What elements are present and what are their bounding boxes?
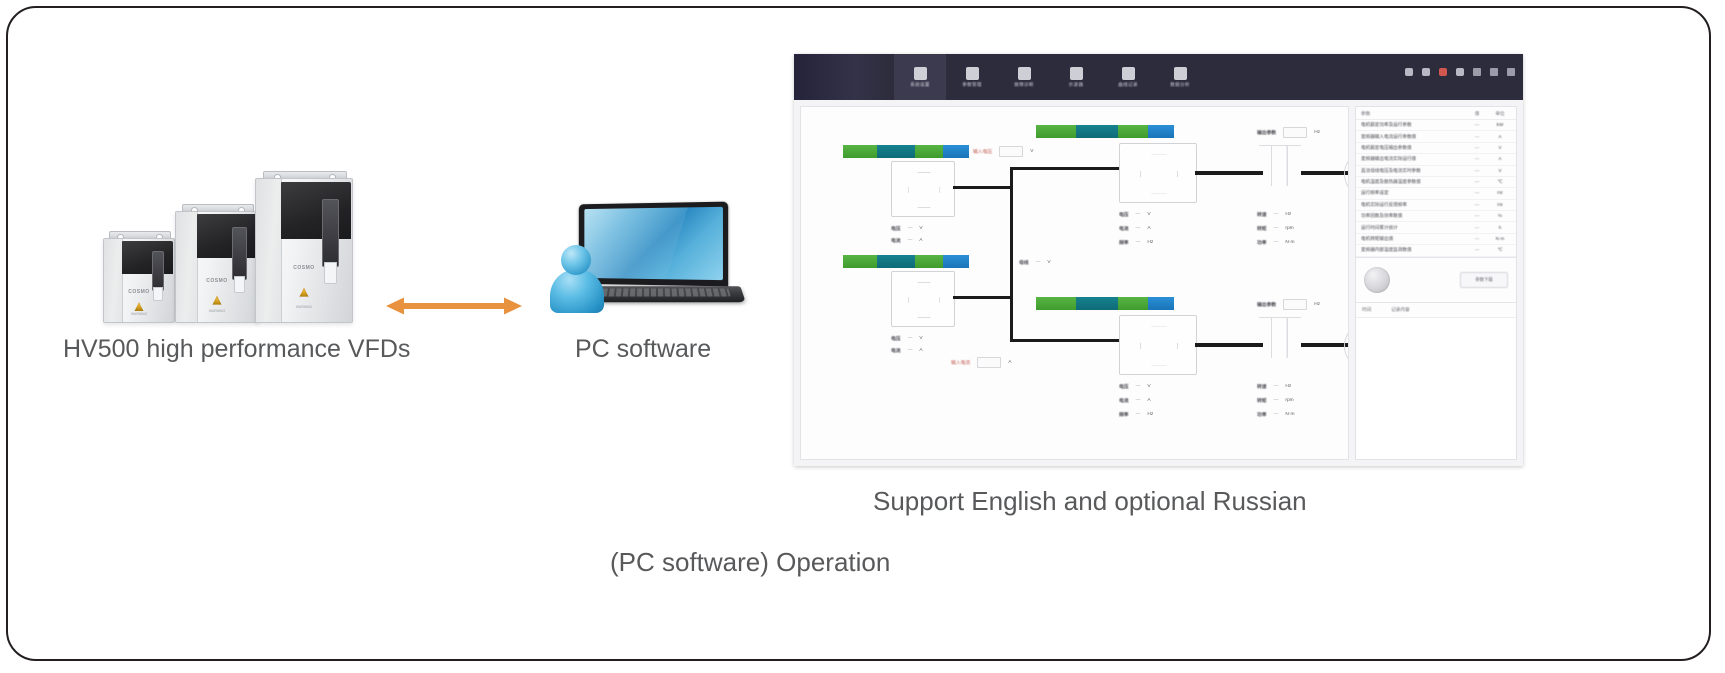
row-unit: N·m (1489, 236, 1511, 242)
window-controls[interactable] (1405, 68, 1515, 76)
drive-brand-label: COSMO (128, 289, 149, 295)
help-icon[interactable] (1405, 68, 1413, 76)
lang-icon[interactable] (1439, 68, 1447, 76)
drive-brand-label: COSMO (206, 278, 227, 284)
drive-side-panel (104, 239, 123, 322)
row-name: 电机额定电压输出参数值 (1361, 145, 1465, 151)
drive-keypad-icon (232, 227, 246, 280)
row-unit: V (1489, 168, 1511, 174)
mid-param-lower-1: 电压 — V (1119, 383, 1151, 390)
tab-system-settings[interactable]: 系统设置 (894, 54, 946, 100)
tab-curve-record[interactable]: 曲线记录 (1102, 54, 1154, 100)
table-row[interactable]: 功率因数及效率数值 — % (1356, 211, 1516, 222)
operation-caption: (PC software) Operation (610, 547, 890, 578)
monitor-icon (1018, 67, 1031, 80)
inverter-block-upper[interactable] (1119, 143, 1197, 203)
bus-wire-lower-out (1010, 339, 1120, 342)
support-language-caption: Support English and optional Russian (873, 486, 1307, 517)
row-value: — (1465, 202, 1489, 208)
chart-icon (1122, 67, 1135, 80)
status-bar-mid-upper (1036, 125, 1174, 138)
drive-side-panel (176, 212, 198, 322)
row-value: — (1465, 179, 1489, 185)
row-value: — (1465, 225, 1489, 231)
bus-wire-upper-out (1010, 167, 1120, 170)
drive-keypad-icon (322, 199, 338, 267)
drive-dark-panel (122, 241, 173, 274)
tab-label: 曲线记录 (1118, 82, 1138, 88)
col-header-unit: 单位 (1489, 111, 1511, 117)
drive-warning-text: WARNING (296, 305, 312, 309)
inverter-block-lower[interactable] (1119, 315, 1197, 375)
left-param-row-upper-2: 电流 — A (891, 237, 923, 244)
value-field[interactable] (977, 357, 1001, 368)
mid-param-upper-1: 电压 — V (1119, 211, 1151, 218)
topology-canvas[interactable]: 输入电压 V 电压 — V 电流 — A (800, 106, 1349, 460)
left-input-label-lower: 输入电流 A (951, 357, 1011, 368)
row-name: 运行时间累计统计 (1361, 225, 1465, 231)
user-icon[interactable] (1422, 68, 1430, 76)
warning-triangle-icon (135, 302, 144, 311)
row-name: 运行频率设定 (1361, 190, 1465, 196)
row-unit: kW (1489, 122, 1511, 128)
row-unit: Hz (1489, 202, 1511, 208)
drive-keypad-tail (153, 287, 163, 301)
output-wire-lower (1195, 343, 1263, 347)
row-name: 电机温度及散热器温度参数值 (1361, 179, 1465, 185)
row-value: — (1465, 236, 1489, 242)
mid-param-upper-2: 电流 — A (1119, 225, 1151, 232)
gear-icon[interactable] (1456, 68, 1464, 76)
row-unit: h (1489, 225, 1511, 231)
download-params-button[interactable]: 参数下载 (1460, 272, 1508, 288)
parameter-table-rows[interactable]: 电机额定功率及运行参数 — kW 变频器输入电流运行参数值 — A 电机额定电压… (1356, 120, 1516, 257)
pc-caption: PC software (575, 335, 711, 364)
laptop-screen-icon (579, 202, 728, 287)
log-col-content: 记录内容 (1391, 307, 1409, 313)
filter-block-lower (1259, 317, 1301, 358)
converter-block-left-upper[interactable] (891, 161, 955, 217)
dial-knob-icon[interactable] (1364, 267, 1390, 293)
col-header-name: 参数 (1361, 111, 1465, 117)
table-row[interactable]: 运行时间累计统计 — h (1356, 222, 1516, 233)
row-name: 变频器内部温度监测数值 (1361, 247, 1465, 253)
warning-triangle-icon (300, 288, 309, 297)
user-avatar-head-icon (561, 245, 591, 275)
vfd-unit-medium: COSMO WARNING (175, 211, 259, 323)
drive-keypad-icon (152, 251, 165, 291)
row-value: — (1465, 145, 1489, 151)
tab-label: 数据分析 (1170, 82, 1190, 88)
bus-voltage-label: 母线 — V (1019, 259, 1051, 266)
status-bar-left-lower (843, 255, 969, 268)
row-unit: V (1489, 145, 1511, 151)
slide-root: COSMO WARNING COSMO WARNING (0, 0, 1725, 673)
software-titlebar: 系统设置 参数管理 故障诊断 示波器 (794, 54, 1523, 100)
left-param-row-upper-1: 电压 — V (891, 225, 923, 232)
row-unit: ℃ (1489, 179, 1511, 185)
col-header-value: 值 (1465, 111, 1489, 117)
converter-block-left-lower[interactable] (891, 271, 955, 327)
out-param-upper-3: 功率 — N·m (1257, 239, 1294, 246)
list-icon (966, 67, 979, 80)
tab-label: 系统设置 (910, 82, 930, 88)
row-value: — (1465, 190, 1489, 196)
drive-dark-panel (197, 214, 257, 258)
table-row[interactable]: 电机实际运行反馈频率 — Hz (1356, 200, 1516, 211)
software-logo (794, 54, 894, 100)
grid-icon (914, 67, 927, 80)
mid-param-lower-3: 频率 — Hz (1119, 411, 1153, 418)
log-table-body[interactable] (1356, 318, 1516, 460)
row-unit: A (1489, 134, 1511, 140)
mid-param-upper-3: 频率 — Hz (1119, 239, 1153, 246)
value-field[interactable] (999, 146, 1023, 157)
maximize-icon[interactable] (1490, 68, 1498, 76)
bus-wire-upper-in (953, 186, 1013, 189)
drive-warning-text: WARNING (131, 312, 147, 316)
table-row[interactable]: 电机转矩输出值 — N·m (1356, 234, 1516, 245)
motor-symbol-lower (1344, 322, 1349, 370)
value-field[interactable] (1283, 127, 1307, 138)
drive-warning-text: WARNING (209, 309, 225, 313)
pc-software-window: 系统设置 参数管理 故障诊断 示波器 (794, 54, 1523, 466)
parameter-panel[interactable]: 参数 值 单位 电机额定功率及运行参数 — kW 变频器输入电流运行参数值 — (1355, 106, 1517, 460)
row-name: 电机转矩输出值 (1361, 236, 1465, 242)
software-tab-bar[interactable]: 系统设置 参数管理 故障诊断 示波器 (894, 54, 1206, 100)
row-name: 电机实际运行反馈频率 (1361, 202, 1465, 208)
bus-wire-vertical (1010, 167, 1013, 342)
close-icon[interactable] (1507, 68, 1515, 76)
minimize-icon[interactable] (1473, 68, 1481, 76)
tab-label: 参数管理 (962, 82, 982, 88)
left-param-row-lower-1: 电压 — V (891, 335, 923, 342)
status-bar-mid-lower (1036, 297, 1174, 310)
row-value: — (1465, 122, 1489, 128)
drive-keypad-tail (324, 262, 337, 284)
vfd-caption: HV500 high performance VFDs (63, 335, 410, 364)
value-field[interactable] (1283, 299, 1307, 310)
output-title-upper: 输出参数 Hz (1257, 127, 1320, 138)
laptop-wallpaper (584, 207, 723, 280)
tab-fault-diagnosis[interactable]: 故障诊断 (998, 54, 1050, 100)
drive-dark-panel (281, 182, 351, 239)
row-value: — (1465, 134, 1489, 140)
drive-body: COSMO WARNING (103, 238, 175, 323)
left-param-row-lower-2: 电流 — A (891, 347, 923, 354)
table-row[interactable]: 电机额定电压输出参数值 — V (1356, 143, 1516, 154)
tab-data-analysis[interactable]: 数据分析 (1154, 54, 1206, 100)
drive-brand-label: COSMO (293, 265, 314, 271)
row-name: 变频器输入电流运行参数值 (1361, 134, 1465, 140)
row-name: 功率因数及效率数值 (1361, 213, 1465, 219)
row-value: — (1465, 156, 1489, 162)
status-bar-left-upper (843, 145, 969, 158)
output-title-lower: 输出参数 Hz (1257, 299, 1320, 310)
out-param-lower-2: 转矩 — rpm (1257, 397, 1294, 404)
parameter-table-header: 参数 值 单位 (1356, 107, 1516, 120)
table-row[interactable]: 变频器输入电流运行参数值 — A (1356, 131, 1516, 142)
table-row[interactable]: 运行频率设定 — Hz (1356, 188, 1516, 199)
filter-block-upper (1259, 145, 1301, 186)
output-wire-upper (1195, 171, 1263, 175)
row-name: 变频器输出电流实际运行值 (1361, 156, 1465, 162)
vfd-unit-small: COSMO WARNING (103, 238, 175, 323)
out-param-lower-1: 转速 — Hz (1257, 383, 1291, 390)
vfd-unit-large: COSMO WARNING (255, 178, 353, 323)
row-value: — (1465, 168, 1489, 174)
drive-body: COSMO WARNING (255, 178, 353, 323)
row-unit: ℃ (1489, 247, 1511, 253)
mid-param-lower-2: 电流 — A (1119, 397, 1151, 404)
pc-software-illustration (533, 203, 743, 313)
out-param-upper-1: 转速 — Hz (1257, 211, 1291, 218)
bus-wire-lower-in (953, 296, 1013, 299)
row-value: — (1465, 213, 1489, 219)
row-name: 电机额定功率及运行参数 (1361, 122, 1465, 128)
warning-triangle-icon (213, 296, 222, 305)
row-unit: A (1489, 156, 1511, 162)
motor-wire-lower (1301, 343, 1349, 347)
drive-keypad-tail (234, 276, 245, 293)
motor-wire-upper (1301, 171, 1349, 175)
table-row[interactable]: 直流母线电压及电流实时参数 — V (1356, 166, 1516, 177)
bidirectional-arrow-icon (384, 294, 524, 318)
row-unit: % (1489, 213, 1511, 219)
wave-icon (1070, 67, 1083, 80)
tab-parameter-manage[interactable]: 参数管理 (946, 54, 998, 100)
table-row[interactable]: 电机温度及散热器温度参数值 — ℃ (1356, 177, 1516, 188)
tab-label: 故障诊断 (1014, 82, 1034, 88)
motor-symbol-upper (1344, 150, 1349, 198)
table-row[interactable]: 变频器内部温度监测数值 — ℃ (1356, 245, 1516, 256)
software-body: 输入电压 V 电压 — V 电流 — A (794, 100, 1523, 466)
vfd-drives-group: COSMO WARNING COSMO WARNING (103, 178, 393, 323)
row-value: — (1465, 247, 1489, 253)
out-param-lower-3: 功率 — N·m (1257, 411, 1294, 418)
tab-oscilloscope[interactable]: 示波器 (1050, 54, 1102, 100)
knob-control-area[interactable]: 参数下载 (1356, 257, 1516, 303)
content-card: COSMO WARNING COSMO WARNING (6, 6, 1711, 661)
analysis-icon (1174, 67, 1187, 80)
drive-side-panel (256, 179, 282, 322)
table-row[interactable]: 电机额定功率及运行参数 — kW (1356, 120, 1516, 131)
out-param-upper-2: 转矩 — rpm (1257, 225, 1294, 232)
row-name: 直流母线电压及电流实时参数 (1361, 168, 1465, 174)
tab-label: 示波器 (1069, 82, 1084, 88)
log-table-header: 时间 记录内容 (1356, 303, 1516, 318)
drive-body: COSMO WARNING (175, 211, 259, 323)
left-input-label-upper: 输入电压 V (973, 146, 1033, 157)
log-col-time: 时间 (1362, 307, 1371, 313)
row-unit: Hz (1489, 190, 1511, 196)
table-row[interactable]: 变频器输出电流实际运行值 — A (1356, 154, 1516, 165)
